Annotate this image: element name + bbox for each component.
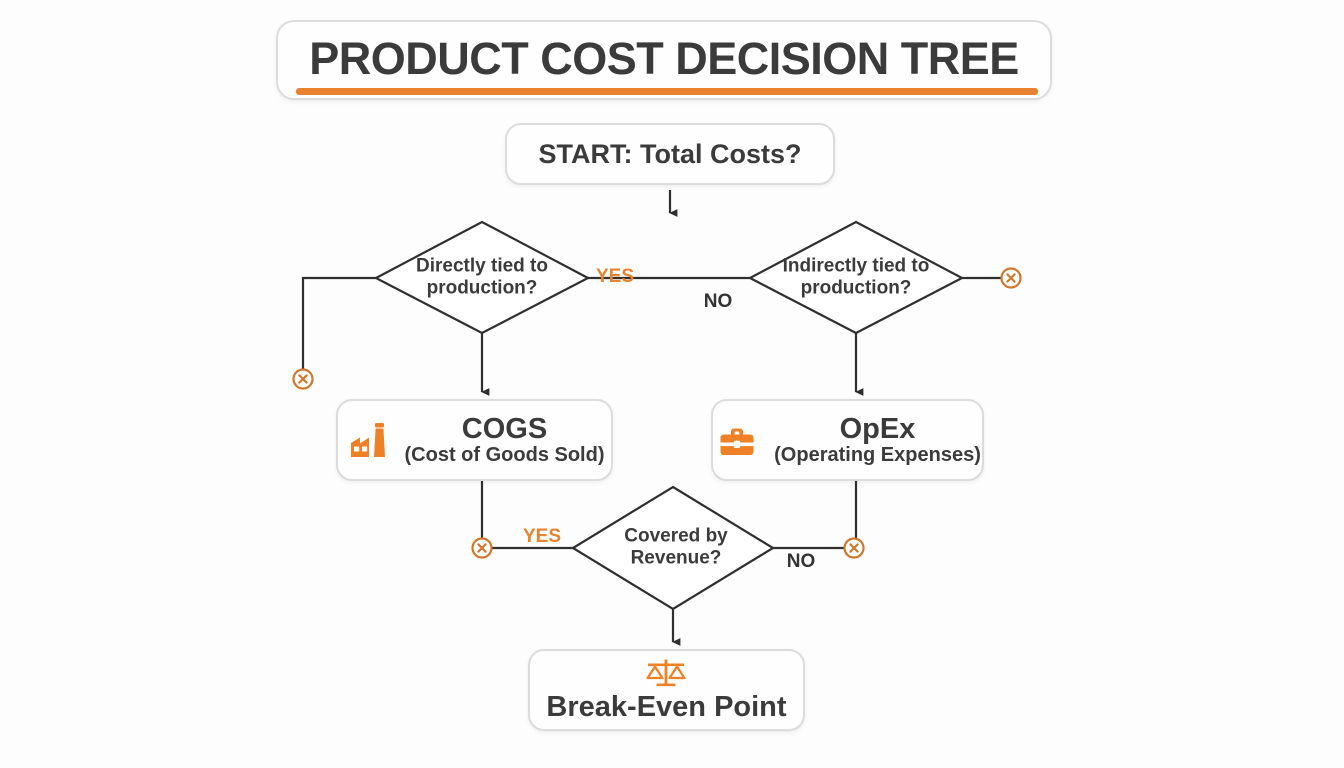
edge-label-revenue-yes: YES — [523, 526, 561, 548]
cogs-subtitle: (Cost of Goods Sold) — [405, 444, 605, 466]
diagram-canvas: PRODUCT COST DECISION TREE START: Total … — [0, 0, 1344, 768]
decision-indirectly-tied-line1: Indirectly tied to — [783, 256, 930, 278]
decision-indirectly-tied-line2: production? — [783, 278, 930, 300]
factory-icon — [345, 417, 391, 463]
opex-title: OpEx — [840, 414, 916, 444]
start-node-label: START: Total Costs? — [539, 139, 802, 170]
opex-node[interactable]: OpEx (Operating Expenses) — [711, 399, 984, 481]
page-title: PRODUCT COST DECISION TREE — [309, 36, 1019, 81]
briefcase-icon — [714, 417, 760, 463]
break-even-node[interactable]: Break-Even Point — [528, 649, 805, 731]
decision-directly-tied-label: Directly tied to production? — [416, 256, 548, 301]
cogs-node[interactable]: COGS (Cost of Goods Sold) — [336, 399, 613, 481]
start-node[interactable]: START: Total Costs? — [505, 123, 835, 185]
decision-indirectly-tied-label: Indirectly tied to production? — [783, 256, 930, 301]
terminator-revenue-no — [845, 539, 864, 558]
edge-label-revenue-no: NO — [787, 551, 816, 573]
balance-scale-icon — [641, 657, 691, 691]
title-accent-underline — [296, 88, 1038, 95]
terminator-revenue-yes — [473, 539, 492, 558]
decision-covered-by-revenue-line1: Covered by — [624, 526, 727, 548]
terminator-right-of-indirect — [1002, 269, 1021, 288]
edge-label-direct-no: NO — [704, 291, 733, 313]
decision-covered-by-revenue-line2: Revenue? — [624, 548, 727, 570]
terminator-left-of-direct — [294, 370, 313, 389]
decision-directly-tied-line1: Directly tied to — [416, 256, 548, 278]
cogs-title: COGS — [462, 414, 547, 444]
edge-label-direct-yes: YES — [596, 266, 634, 288]
decision-directly-tied-line2: production? — [416, 278, 548, 300]
decision-covered-by-revenue-label: Covered by Revenue? — [624, 526, 727, 571]
opex-subtitle: (Operating Expenses) — [774, 444, 981, 466]
break-even-title: Break-Even Point — [546, 692, 786, 722]
